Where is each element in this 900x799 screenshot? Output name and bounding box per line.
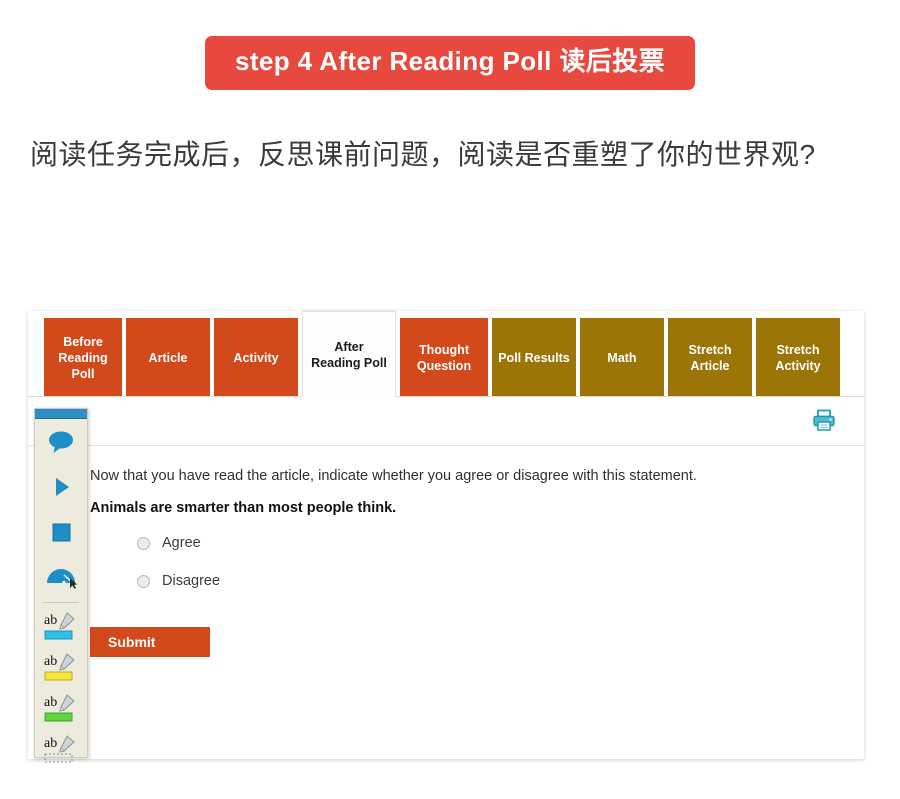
square-icon[interactable] [35,509,87,554]
palette-drag-handle[interactable] [35,409,87,419]
tab-article[interactable]: Article [126,318,210,397]
palette-divider [43,602,79,603]
tab-label: After Reading Poll [309,339,389,371]
tab-label: Stretch Activity [762,342,834,374]
submit-button[interactable]: Submit [90,627,210,657]
tab-label: Math [607,350,636,366]
speech-bubble-icon[interactable] [35,419,87,464]
poll-option-disagree[interactable]: Disagree [90,568,864,594]
play-triangle-icon[interactable] [35,464,87,509]
radio-button-agree[interactable] [137,537,150,550]
svg-text:ab: ab [44,695,57,710]
poll-statement: Animals are smarter than most people thi… [90,500,864,516]
step-banner: step 4 After Reading Poll 读后投票 [205,36,695,90]
tab-label: Poll Results [498,350,570,366]
poll-prompt: Now that you have read the article, indi… [90,468,864,484]
tab-before-reading-poll[interactable]: Before Reading Poll [44,318,122,397]
tab-poll-results[interactable]: Poll Results [492,318,576,397]
app-screenshot-panel: Before Reading Poll Article Activity Aft… [28,311,864,759]
intro-paragraph: 阅读任务完成后，反思课前问题，阅读是否重塑了你的世界观? [30,132,870,177]
radio-button-disagree[interactable] [137,575,150,588]
tab-label: Article [149,350,188,366]
tab-after-reading-poll[interactable]: After Reading Poll [302,311,396,397]
tab-stretch-article[interactable]: Stretch Article [668,318,752,397]
highlighter-yellow-icon[interactable]: ab [35,647,87,688]
tab-label: Before Reading Poll [50,334,116,382]
banner-row: step 4 After Reading Poll 读后投票 [0,0,900,90]
highlighter-cyan-icon[interactable]: ab [35,606,87,647]
tab-thought-question[interactable]: Thought Question [400,318,488,397]
poll-body: Now that you have read the article, indi… [28,446,864,657]
tab-label: Stretch Article [674,342,746,374]
tab-label: Thought Question [406,342,482,374]
highlighter-green-icon[interactable]: ab [35,688,87,729]
arc-shape-icon[interactable] [35,554,87,599]
tab-math[interactable]: Math [580,318,664,397]
poll-option-label: Agree [162,535,201,551]
printer-icon[interactable] [811,407,837,438]
print-toolbar [28,397,864,446]
tab-activity[interactable]: Activity [214,318,298,397]
poll-option-label: Disagree [162,573,220,589]
tab-strip: Before Reading Poll Article Activity Aft… [28,311,864,397]
highlighter-none-icon[interactable]: ab [35,729,87,770]
tab-label: Activity [233,350,278,366]
tab-stretch-activity[interactable]: Stretch Activity [756,318,840,397]
svg-text:ab: ab [44,736,57,751]
svg-text:ab: ab [44,654,57,669]
svg-text:ab: ab [44,613,57,628]
poll-content-area: Now that you have read the article, indi… [28,396,864,759]
annotation-tool-palette[interactable]: ab ab ab ab [34,408,88,758]
poll-option-agree[interactable]: Agree [90,530,864,556]
